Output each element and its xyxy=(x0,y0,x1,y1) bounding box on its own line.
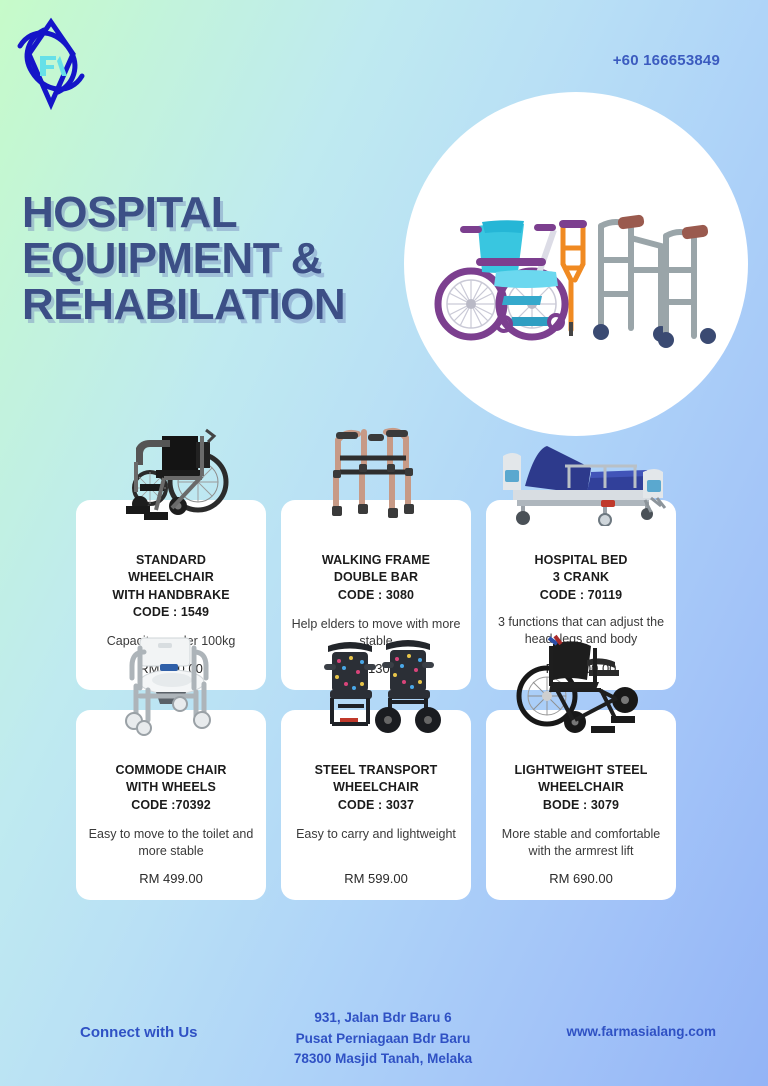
product-title: LIGHTWEIGHT STEELWHEELCHAIRBODE : 3079 xyxy=(515,762,648,814)
product-title: COMMODE CHAIRWITH WHEELSCODE :70392 xyxy=(115,762,226,814)
headline-line-2: EQUIPMENT & xyxy=(22,236,442,282)
product-card[interactable]: STEEL TRANSPORTWHEELCHAIRCODE : 3037 Eas… xyxy=(281,710,471,900)
product-desc: Easy to move to the toilet and more stab… xyxy=(86,826,256,860)
contact-phone[interactable]: +60 166653849 xyxy=(613,52,720,69)
brand-logo-icon xyxy=(14,16,88,110)
product-price: RM 690.00 xyxy=(486,871,676,886)
walking-frame-double-bar-photo-icon xyxy=(281,416,471,526)
product-desc: Help elders to move with more stable xyxy=(291,616,461,650)
product-title: HOSPITAL BED3 CRANKCODE : 70119 xyxy=(534,552,627,604)
footer-address: 931, Jalan Bdr Baru 6Pusat Perniagaan Bd… xyxy=(268,1008,498,1070)
connect-with-us-label: Connect with Us xyxy=(80,1024,198,1041)
headline-line-3: REHABILATION xyxy=(22,282,442,328)
product-price: RM 2500.00 xyxy=(486,661,676,676)
product-title: STEEL TRANSPORTWHEELCHAIRCODE : 3037 xyxy=(315,762,438,814)
standard-wheelchair-photo-icon xyxy=(76,416,266,526)
wheelchair-crutch-walker-illustration-icon xyxy=(426,164,726,364)
product-card[interactable]: STANDARDWHEELCHAIRWITH HANDBRAKECODE : 1… xyxy=(76,500,266,690)
product-desc: Capacity : under 100kg xyxy=(107,633,236,650)
page-title: HOSPITAL EQUIPMENT & REHABILATION xyxy=(22,190,442,329)
product-card[interactable]: WALKING FRAMEDOUBLE BARCODE : 3080 Help … xyxy=(281,500,471,690)
product-price: RM 499.00 xyxy=(76,871,266,886)
product-card[interactable]: COMMODE CHAIRWITH WHEELSCODE :70392 Easy… xyxy=(76,710,266,900)
product-grid: STANDARDWHEELCHAIRWITH HANDBRAKECODE : 1… xyxy=(76,500,696,900)
product-desc: More stable and comfortable with the arm… xyxy=(496,826,666,860)
headline-line-1: HOSPITAL xyxy=(22,190,442,236)
product-price: RM 390.00 xyxy=(76,661,266,676)
product-title: STANDARDWHEELCHAIRWITH HANDBRAKECODE : 1… xyxy=(112,552,229,621)
product-price: RM 599.00 xyxy=(281,871,471,886)
product-desc: 3 functions that can adjust the head, le… xyxy=(496,614,666,648)
product-card[interactable]: HOSPITAL BED3 CRANKCODE : 70119 3 functi… xyxy=(486,500,676,690)
footer: Connect with Us 931, Jalan Bdr Baru 6Pus… xyxy=(0,1000,768,1070)
product-card[interactable]: LIGHTWEIGHT STEELWHEELCHAIRBODE : 3079 M… xyxy=(486,710,676,900)
product-desc: Easy to carry and lightweight xyxy=(296,826,456,843)
product-price: RM 130.00 xyxy=(281,661,471,676)
product-title: WALKING FRAMEDOUBLE BARCODE : 3080 xyxy=(322,552,430,604)
hero-illustration-circle xyxy=(404,92,748,436)
footer-website-link[interactable]: www.farmasialang.com xyxy=(566,1024,716,1039)
